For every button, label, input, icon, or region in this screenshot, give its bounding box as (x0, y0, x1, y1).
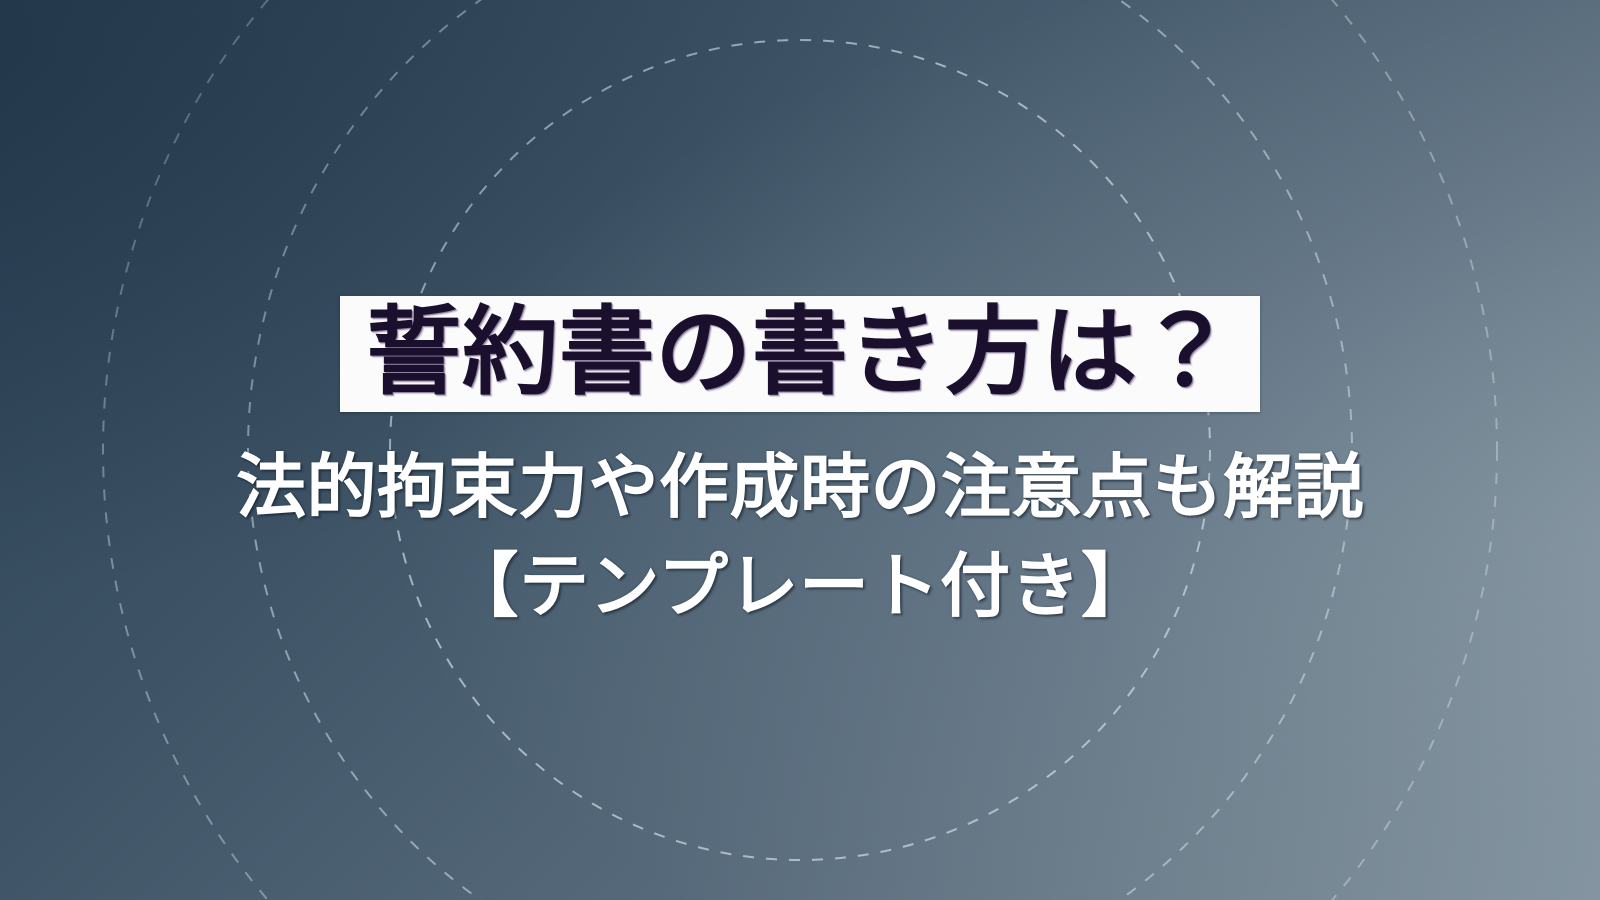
title-highlight-band: 誓約書の書き方は？ (340, 296, 1261, 412)
slide-content: 誓約書の書き方は？ 法的拘束力や作成時の注意点も解説 【テンプレート付き】 (0, 0, 1600, 900)
title-slide: 誓約書の書き方は？ 法的拘束力や作成時の注意点も解説 【テンプレート付き】 (0, 0, 1600, 900)
subtitle: 法的拘束力や作成時の注意点も解説 【テンプレート付き】 (236, 438, 1364, 637)
subtitle-line-1: 法的拘束力や作成時の注意点も解説 (236, 438, 1364, 537)
page-title: 誓約書の書き方は？ (366, 304, 1235, 400)
subtitle-line-2: 【テンプレート付き】 (236, 537, 1364, 636)
